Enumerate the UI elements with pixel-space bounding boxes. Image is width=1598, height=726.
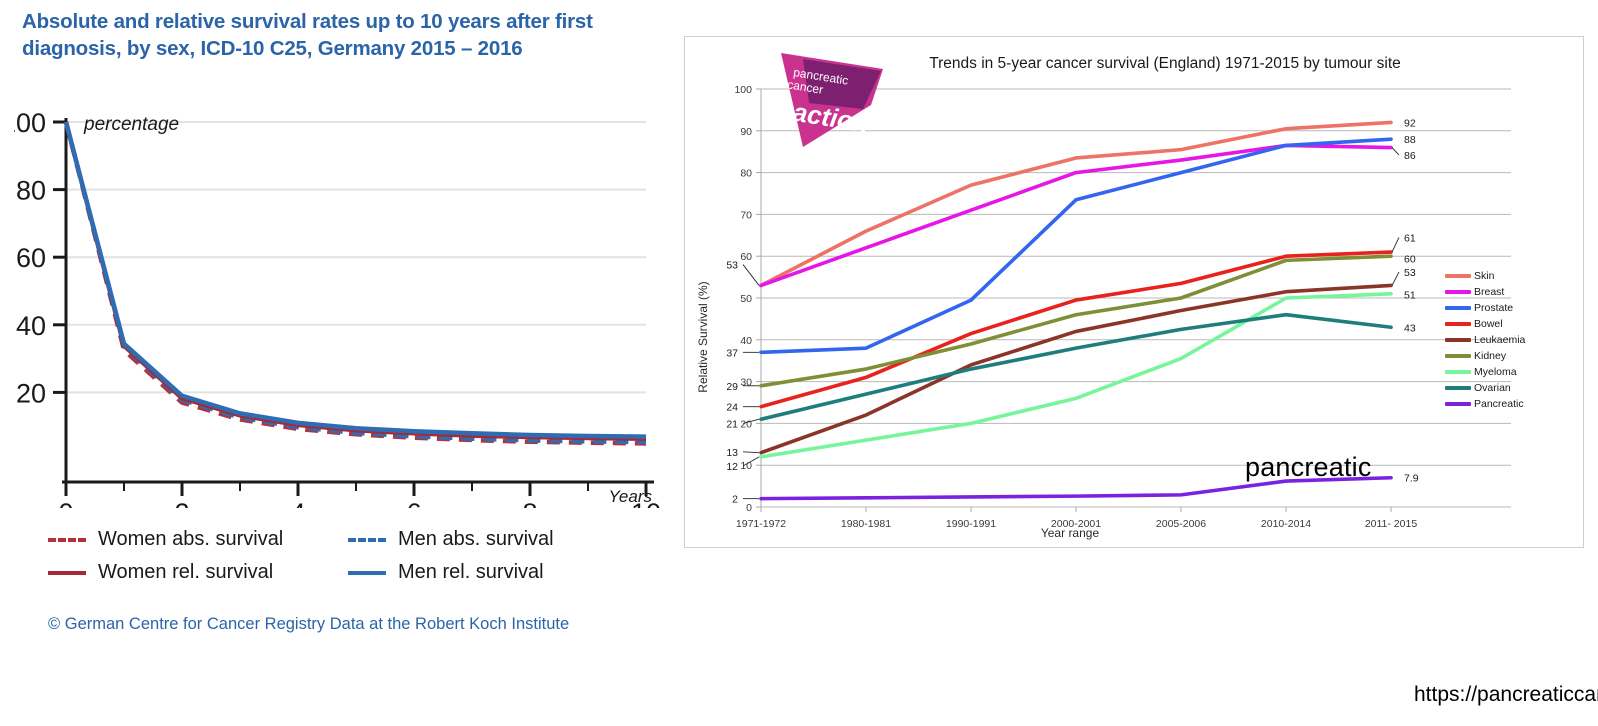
pca-xtick-label: 2011- 2015 — [1365, 518, 1418, 530]
rki-legend-item: Women abs. survival — [48, 528, 348, 551]
pca-xtick-label: 1990-1991 — [946, 518, 996, 530]
pca-series-bowel — [761, 252, 1391, 407]
pca-ytick-70: 70 — [740, 209, 752, 221]
legend-swatch-icon — [1445, 370, 1471, 374]
pca-ytick-0: 0 — [746, 502, 752, 514]
pca-ytick-10: 10 — [740, 460, 752, 472]
pca-legend-label: Pancreatic — [1474, 398, 1524, 410]
legend-swatch-icon — [348, 566, 386, 580]
rki-legend-label: Men rel. survival — [398, 561, 544, 584]
rki-ytick-100: 100 — [14, 108, 46, 138]
rki-gridlines — [66, 122, 646, 392]
pca-legend-label: Leukaemia — [1474, 334, 1525, 346]
pca-start-value-myeloma: 12 — [726, 461, 738, 473]
rki-series-women-rel-survival — [66, 122, 646, 439]
pca-end-value-skin: 92 — [1404, 117, 1416, 129]
rki-legend-label: Men abs. survival — [398, 528, 554, 551]
pca-end-value-pancreatic: 7.9 — [1404, 473, 1419, 485]
pca-xtick-label: 2010-2014 — [1261, 518, 1311, 530]
rki-xtick-6: 6 — [406, 498, 421, 508]
pca-legend-item: Skin — [1445, 269, 1525, 283]
legend-swatch-icon — [1445, 290, 1471, 294]
legend-swatch-icon — [48, 533, 86, 547]
pca-legend-item: Ovarian — [1445, 381, 1525, 395]
pca-watermark-text: pancreatic — [1245, 452, 1372, 483]
rki-legend-item: Men rel. survival — [348, 561, 648, 584]
legend-swatch-icon — [348, 533, 386, 547]
rki-line-chart: 204060801000246810 percentage Years — [14, 108, 660, 508]
pca-ytick-30: 30 — [740, 377, 752, 389]
rki-percentage-note: percentage — [83, 114, 179, 135]
pca-legend-item: Pancreatic — [1445, 397, 1525, 411]
pca-ytick-90: 90 — [740, 126, 752, 138]
rki-ytick-40: 40 — [16, 311, 46, 341]
pca-end-value-leukaemia: 53 — [1404, 267, 1416, 279]
rki-series-men-abs-survival — [66, 122, 646, 442]
legend-swatch-icon — [48, 566, 86, 580]
pca-ytick-40: 40 — [740, 335, 752, 347]
rki-tick-labels: 204060801000246810 — [14, 108, 660, 508]
rki-series-lines — [66, 122, 646, 443]
pca-end-value-bowel: 61 — [1404, 232, 1416, 244]
pca-start-value-bowel: 24 — [726, 402, 738, 414]
pca-xtick-label: 1971-1972 — [736, 518, 786, 530]
rki-x-axis-label: Years — [609, 487, 653, 506]
pca-start-value-breast: 53 — [726, 260, 738, 272]
pca-ytick-50: 50 — [740, 293, 752, 305]
rki-legend-label: Women rel. survival — [98, 561, 273, 584]
pca-series-kidney — [761, 256, 1391, 386]
legend-swatch-icon — [1445, 322, 1471, 326]
rki-xtick-0: 0 — [58, 498, 73, 508]
pca-value-leader-lines — [743, 148, 1399, 499]
pca-start-value-leukaemia: 13 — [726, 447, 738, 459]
legend-swatch-icon — [1445, 402, 1471, 406]
screenshot-root: Absolute and relative survival rates up … — [0, 0, 1598, 726]
rki-series-men-rel-survival — [66, 122, 646, 437]
rki-chart-title: Absolute and relative survival rates up … — [22, 8, 642, 62]
pca-legend-label: Prostate — [1474, 302, 1513, 314]
pca-start-value-pancreatic: 2 — [732, 494, 738, 506]
pca-legend-label: Bowel — [1474, 318, 1503, 330]
pca-end-value-myeloma: 51 — [1404, 290, 1416, 302]
legend-swatch-icon — [1445, 274, 1471, 278]
rki-ytick-20: 20 — [16, 378, 46, 408]
pca-ytick-80: 80 — [740, 168, 752, 180]
pca-legend-item: Leukaemia — [1445, 333, 1525, 347]
rki-xtick-8: 8 — [522, 498, 537, 508]
pca-series-myeloma — [761, 294, 1391, 457]
pca-x-axis-label: Year range — [1041, 526, 1100, 540]
pca-end-value-kidney: 60 — [1404, 253, 1416, 265]
legend-swatch-icon — [1445, 354, 1471, 358]
rki-legend-item: Women rel. survival — [48, 561, 348, 584]
source-url-text: https://pancreaticcanceraction.org/news/… — [1414, 681, 1598, 709]
pca-legend-item: Breast — [1445, 285, 1525, 299]
pca-legend-item: Myeloma — [1445, 365, 1525, 379]
pca-end-value-breast: 86 — [1404, 150, 1416, 162]
rki-legend-label: Women abs. survival — [98, 528, 283, 551]
rki-credit-line: © German Centre for Cancer Registry Data… — [48, 615, 569, 634]
legend-swatch-icon — [1445, 386, 1471, 390]
pca-legend-label: Myeloma — [1474, 366, 1517, 378]
pca-legend-item: Kidney — [1445, 349, 1525, 363]
pca-ytick-100: 100 — [734, 84, 752, 96]
rki-xtick-2: 2 — [174, 498, 189, 508]
rki-legend: Women abs. survivalMen abs. survivalWome… — [48, 528, 648, 584]
pancreatic-cancer-action-logo: pancreatic cancer action — [763, 47, 893, 152]
pca-legend-item: Bowel — [1445, 317, 1525, 331]
rki-figure-panel: Absolute and relative survival rates up … — [0, 0, 680, 726]
pca-y-axis-label: Relative Survival (%) — [696, 281, 710, 392]
pca-legend-label: Skin — [1474, 270, 1494, 282]
legend-swatch-icon — [1445, 338, 1471, 342]
pca-series-breast — [761, 145, 1391, 285]
rki-series-women-abs-survival — [66, 122, 646, 443]
rki-ytick-80: 80 — [16, 176, 46, 206]
pca-chart-frame: 53372413291221292868861536051437.9 01020… — [684, 36, 1584, 548]
pca-ytick-60: 60 — [740, 251, 752, 263]
pca-start-value-ovarian: 21 — [726, 418, 738, 430]
rki-legend-item: Men abs. survival — [348, 528, 648, 551]
pca-ytick-20: 20 — [740, 418, 752, 430]
pca-figure-panel: 53372413291221292868861536051437.9 01020… — [684, 36, 1584, 546]
pca-legend-label: Kidney — [1474, 350, 1506, 362]
pca-start-value-prostate: 37 — [726, 347, 738, 359]
rki-xtick-4: 4 — [290, 498, 305, 508]
legend-swatch-icon — [1445, 306, 1471, 310]
pca-legend-label: Ovarian — [1474, 382, 1511, 394]
pca-start-value-kidney: 29 — [726, 381, 738, 393]
pca-legend: SkinBreastProstateBowelLeukaemiaKidneyMy… — [1445, 269, 1525, 411]
pca-legend-label: Breast — [1474, 286, 1504, 298]
pca-xtick-label: 1980-1981 — [841, 518, 891, 530]
pca-legend-item: Prostate — [1445, 301, 1525, 315]
pca-end-value-ovarian: 43 — [1404, 322, 1416, 334]
pca-xtick-label: 2005-2006 — [1156, 518, 1206, 530]
rki-chart-svg: 204060801000246810 percentage Years — [14, 108, 660, 508]
pca-end-value-prostate: 88 — [1404, 134, 1416, 146]
pca-series-lines — [761, 122, 1391, 498]
rki-ytick-60: 60 — [16, 243, 46, 273]
